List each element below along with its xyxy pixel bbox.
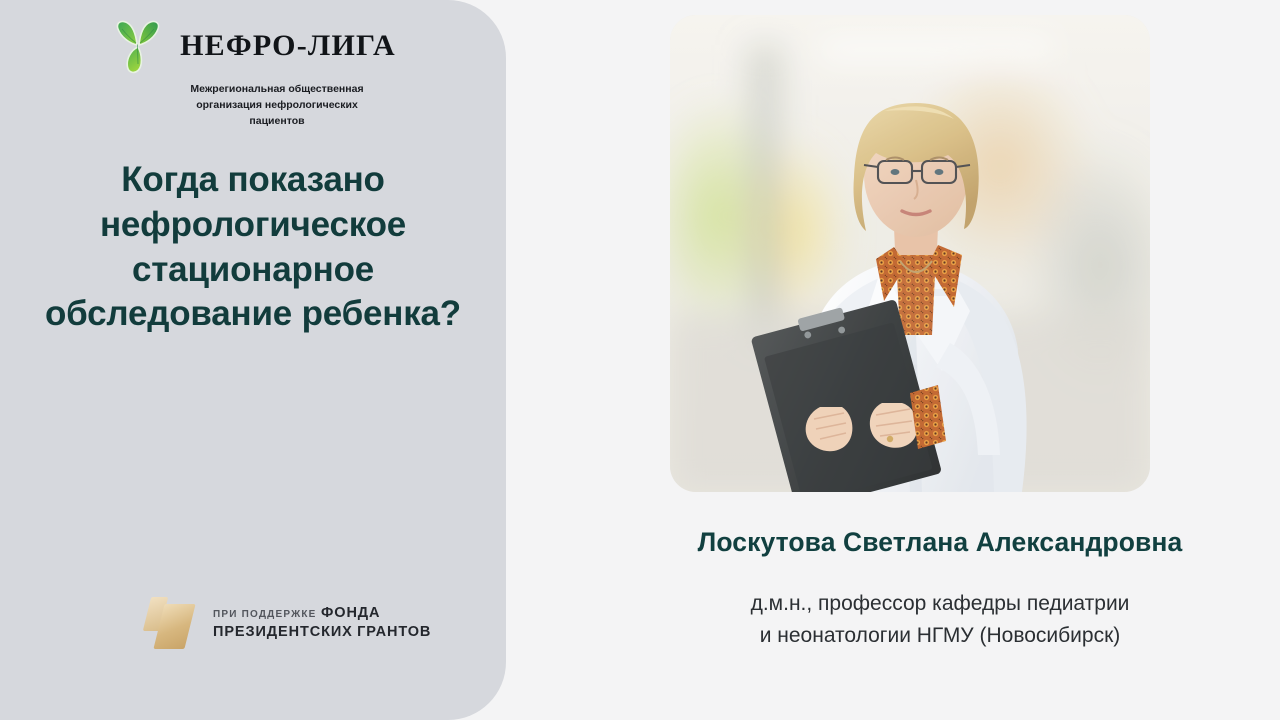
grants-line-2: ФОНДА [321, 605, 380, 621]
trefoil-kidney-leaf-icon [106, 14, 170, 78]
brand-lockup: НЕФРО-ЛИГА Межрегиональная общественная … [0, 14, 506, 130]
grants-text-block: ПРИ ПОДДЕРЖКЕ ФОНДА ПРЕЗИДЕНТСКИХ ГРАНТО… [213, 604, 506, 643]
brand-subtitle-line-2: организация нефрологических [172, 98, 382, 114]
left-panel: НЕФРО-ЛИГА Межрегиональная общественная … [0, 0, 506, 720]
slide-headline: Когда показано нефрологическое стационар… [28, 158, 478, 337]
speaker-name: Лоскутова Светлана Александровна [600, 527, 1280, 558]
speaker-role-line-2: и неонатологии НГМУ (Новосибирск) [600, 620, 1280, 652]
grants-support-logo: ПРИ ПОДДЕРЖКЕ ФОНДА ПРЕЗИДЕНТСКИХ ГРАНТО… [145, 592, 506, 654]
presidential-grants-fund-emblem-icon [145, 592, 201, 654]
presentation-slide: НЕФРО-ЛИГА Межрегиональная общественная … [0, 0, 1280, 720]
speaker-photo [670, 15, 1150, 492]
grants-line-3: ПРЕЗИДЕНТСКИХ [213, 624, 353, 640]
brand-subtitle-line-3: пациентов [172, 114, 382, 130]
brand-name: НЕФРО-ЛИГА [180, 31, 396, 61]
speaker-role-line-1: д.м.н., профессор кафедры педиатрии [600, 588, 1280, 620]
brand-top-row: НЕФРО-ЛИГА [106, 14, 396, 78]
brand-subtitle-line-1: Межрегиональная общественная [172, 82, 382, 98]
speaker-role: д.м.н., профессор кафедры педиатрии и не… [600, 588, 1280, 652]
brand-subtitle: Межрегиональная общественная организация… [172, 82, 382, 130]
grants-line-4: ГРАНТОВ [357, 624, 431, 640]
grants-line-1: ПРИ ПОДДЕРЖКЕ [213, 609, 317, 620]
